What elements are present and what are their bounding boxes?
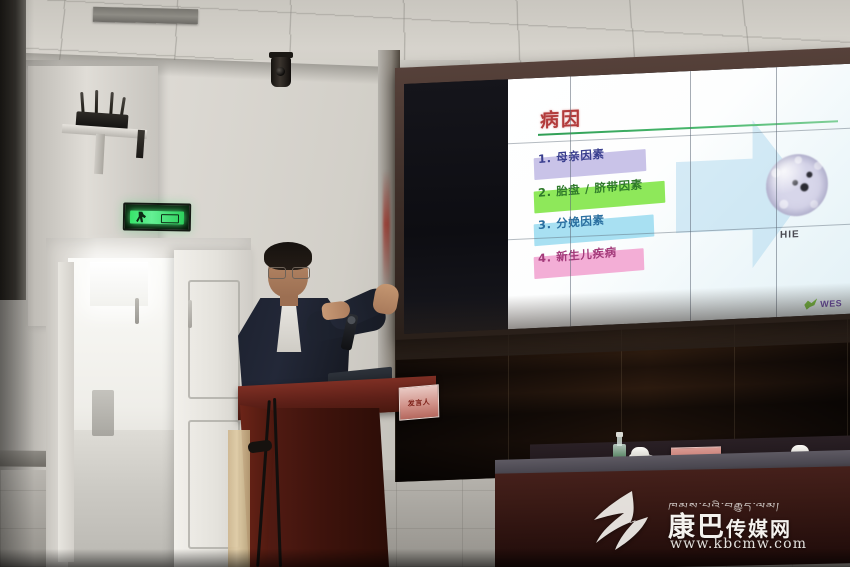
left-wall-corner bbox=[0, 0, 26, 300]
video-wall-display[interactable]: 病因 1. 母亲因素2. 胎盘 / 脐带因素3. 分娩因素4. 新生儿疾病 HI… bbox=[404, 64, 850, 334]
panel-seam bbox=[690, 71, 691, 321]
corridor-object bbox=[92, 390, 114, 436]
conference-table-front bbox=[495, 466, 850, 567]
panel-seam bbox=[570, 76, 571, 326]
lecture-hall-photo: 病因 1. 母亲因素2. 胎盘 / 脐带因素3. 分娩因素4. 新生儿疾病 HI… bbox=[0, 0, 850, 567]
table-left-leg bbox=[503, 468, 531, 567]
leaf-logo-icon bbox=[804, 298, 817, 310]
speaker-hair bbox=[264, 242, 312, 270]
inner-door-handle[interactable] bbox=[135, 298, 139, 324]
podium-nameplate: 发言人 bbox=[399, 384, 440, 420]
presentation-slide: 病因 1. 母亲因素2. 胎盘 / 脐带因素3. 分娩因素4. 新生儿疾病 HI… bbox=[508, 64, 850, 330]
side-curtain bbox=[228, 430, 250, 567]
glasses-icon bbox=[268, 267, 310, 277]
video-wall-dark-panels bbox=[404, 79, 508, 334]
antenna-icon bbox=[95, 90, 98, 114]
corridor-window bbox=[90, 262, 148, 306]
security-camera-icon bbox=[271, 57, 291, 87]
inner-door-leaf bbox=[58, 262, 74, 562]
podium-nameplate-text: 发言人 bbox=[408, 397, 431, 409]
podium-body bbox=[267, 408, 389, 567]
speaker-raised-hand bbox=[372, 282, 401, 316]
corridor-floor bbox=[68, 430, 181, 567]
slide-logo: WES bbox=[804, 297, 842, 310]
ceiling-air-vent-icon bbox=[93, 7, 198, 25]
door-handle[interactable] bbox=[188, 300, 192, 328]
panel-seam bbox=[776, 67, 777, 317]
emergency-exit-sign bbox=[123, 202, 191, 231]
slide-logo-text: WES bbox=[820, 298, 842, 309]
hie-caption: HIE bbox=[780, 229, 800, 241]
running-man-exit-icon bbox=[130, 210, 184, 224]
